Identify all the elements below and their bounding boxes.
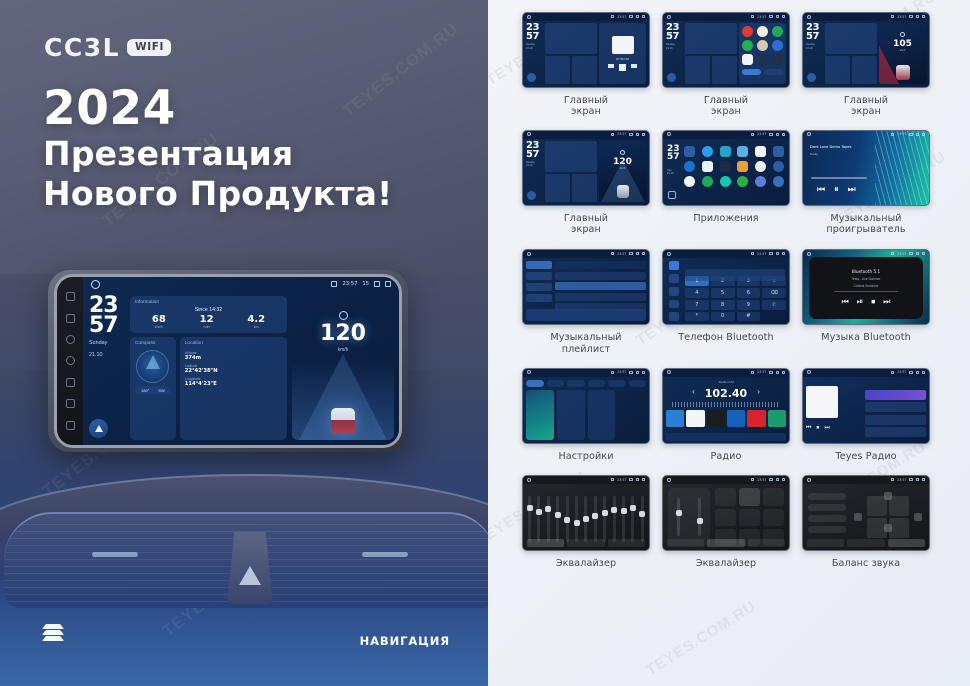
progress-bar[interactable]: [811, 177, 867, 179]
info-widgets: Information Since 14:32 68 km/h 12: [130, 296, 287, 440]
key-back-icon[interactable]: [66, 378, 75, 387]
thumbnail-label: Главныйэкран: [522, 95, 650, 118]
thumbnail-label: Радио: [662, 451, 790, 462]
foot-tab-eq[interactable]: [667, 539, 704, 547]
foot-tab-sound[interactable]: [567, 539, 604, 547]
visualizer-graphic: [875, 131, 929, 205]
preset-list[interactable]: [666, 410, 786, 427]
key-volume-up-icon[interactable]: [66, 421, 75, 430]
thumbnail-label: Музыкальныйпроигрыватель: [802, 213, 930, 236]
home-icon[interactable]: [91, 280, 100, 289]
thumb-bluetooth-music[interactable]: Bluetooth 5.1 Tesla - Like Summer Coldes…: [802, 249, 930, 355]
preset-button[interactable]: [715, 488, 736, 505]
headline-line-2: Нового Продукта!: [43, 174, 392, 214]
latitude-value: 22°42'38"N: [185, 368, 282, 374]
information-since: Since 14:32: [135, 307, 282, 313]
key-settings-icon[interactable]: [66, 335, 75, 344]
compass-dial-icon: [136, 350, 169, 383]
sliders-panel[interactable]: [668, 488, 710, 546]
dial-key-empty: [762, 312, 786, 322]
clock-date: 21.10: [89, 351, 125, 359]
equalizer-bands[interactable]: [528, 496, 644, 542]
call-icon[interactable]: ✆: [762, 300, 786, 310]
track-title: Dark Lane Demo Tapes: [810, 145, 852, 149]
vent-slot-left: [92, 552, 138, 557]
balance-preset[interactable]: [808, 493, 846, 500]
balance-pad[interactable]: [852, 488, 924, 546]
preset-2[interactable]: [686, 410, 704, 427]
thumbnail-image[interactable]: 23:57: [522, 475, 650, 551]
vent-slot-right: [362, 552, 408, 557]
equalizer-footer-tabs[interactable]: [807, 539, 925, 547]
mini-player-bar[interactable]: [526, 309, 646, 321]
navigation-arrow-icon[interactable]: [89, 419, 108, 438]
wifi-badge-icon: WIFI: [127, 39, 171, 56]
thumbnail-image[interactable]: 23:57: [802, 475, 930, 551]
screen-home: 2357 Sunday21.10 07:50 FM: [523, 21, 649, 87]
thumbnail-image[interactable]: 23:57: [522, 249, 650, 325]
hazard-light-button[interactable]: [227, 532, 273, 604]
compass-card[interactable]: Compass 180° SW: [130, 337, 176, 440]
thumb-equalizer-presets[interactable]: 23:57 Эквалайзер: [662, 475, 790, 569]
compass-heading: 180°: [141, 388, 149, 393]
frequency-scale[interactable]: [672, 402, 780, 407]
transport-controls[interactable]: ⏮ ⏹ ⏭: [806, 425, 862, 432]
car-graphic: [331, 408, 355, 434]
location-card[interactable]: Location Altitude 374m Latitude 22°42'38…: [180, 337, 287, 440]
screen-playlist: [523, 258, 649, 324]
previous-icon[interactable]: ⏮: [842, 297, 849, 307]
next-icon[interactable]: ⏭: [848, 184, 856, 195]
status-time: 23:57: [342, 281, 357, 287]
status-volume: 15: [362, 281, 369, 287]
balance-preset[interactable]: [808, 504, 846, 511]
card-empty: [618, 390, 646, 440]
preset-button[interactable]: [763, 488, 784, 505]
dial-key[interactable]: 4: [685, 288, 709, 298]
altitude-row: Altitude 374m: [185, 351, 282, 361]
balance-presets[interactable]: [808, 488, 846, 546]
stop-icon[interactable]: ⏹: [871, 297, 875, 307]
thumb-bluetooth-phone[interactable]: 1 2 3 ☆ 4 5 6 ⌫ 7 8 9 ✆: [662, 249, 790, 355]
longitude-value: 114°4'23"E: [185, 381, 282, 387]
dial-key[interactable]: 6: [737, 288, 761, 298]
phone-number-field[interactable]: [685, 269, 785, 281]
tab-display[interactable]: [567, 380, 585, 387]
product-logo: CC3L WIFI: [44, 33, 171, 62]
thumb-sound-balance[interactable]: 23:57 Баланс звука: [802, 475, 930, 569]
preset-1[interactable]: [666, 410, 684, 427]
backspace-icon[interactable]: ⌫: [762, 288, 786, 298]
tab-wifi[interactable]: [526, 380, 544, 387]
thumb-settings[interactable]: 23:57 Настройки: [522, 368, 650, 462]
dashboard-vent: [4, 512, 488, 608]
thumbnail-label: Teyes Радио: [802, 451, 930, 462]
preset-button[interactable]: [763, 509, 784, 526]
information-stats: 68 km/h 12 min 4.2 km: [135, 315, 282, 329]
thumbnail-image[interactable]: 1 2 3 ☆ 4 5 6 ⌫ 7 8 9 ✆: [662, 249, 790, 325]
head-unit-bezel: 23:57 15 23 57 Sunday 21.10: [54, 274, 402, 448]
frequency-value: 102.40: [705, 388, 747, 399]
dial-key[interactable]: *: [685, 312, 709, 322]
watermark: TEYES.COM.RU: [643, 598, 759, 679]
foot-tab-eq[interactable]: [527, 539, 564, 547]
thumbnail-label: Музыкальныйплейлист: [522, 332, 650, 355]
thumb-home-screen-speed[interactable]: 2357 Sunday21.10 105 km/h: [802, 12, 930, 118]
headline-year: 2024: [43, 84, 392, 134]
hazard-triangle-icon: [239, 566, 261, 585]
key-volume-down-icon[interactable]: [66, 399, 75, 408]
thumbnail-image[interactable]: 23:57: [522, 368, 650, 444]
thumbnail-image[interactable]: 23:57: [662, 475, 790, 551]
preset-button[interactable]: [715, 509, 736, 526]
thumbnail-label: Главныйэкран: [522, 213, 650, 236]
screen-home-nav: 2357 Sunday21.10 120 km/h: [523, 139, 649, 205]
key-home-icon[interactable]: [66, 356, 75, 365]
navigation-label: НАВИГАЦИЯ: [360, 634, 450, 648]
thumbnail-label: Главныйэкран: [802, 95, 930, 118]
thumbnail-image[interactable]: Stadion FM ‹ 102.40 ›: [662, 368, 790, 444]
screen-bluetooth-music: Bluetooth 5.1 Tesla - Like Summer Coldes…: [803, 250, 929, 324]
thumb-home-screen-media[interactable]: 2357 Sunday21.10 07:50 FM 23:57: [522, 12, 650, 118]
status-bar: 23:57 15: [83, 277, 399, 291]
stat-item: 4.2 km: [247, 315, 265, 329]
dial-key[interactable]: 5: [711, 288, 735, 298]
bt-artist: Coldest Sunshine: [854, 284, 879, 288]
presentation-slide: TEYES.COM.RU TEYES.COM.RU TEYES.COM.RU T…: [0, 0, 970, 686]
head-unit-screen[interactable]: 23:57 15 23 57 Sunday 21.10: [83, 277, 399, 445]
bt-track: Tesla - Like Summer: [851, 277, 880, 281]
preset-buttons[interactable]: [715, 488, 784, 546]
head-unit-hardkeys[interactable]: [57, 277, 83, 445]
thumbnail-label: Главныйэкран: [662, 95, 790, 118]
balance-up-button[interactable]: [884, 492, 892, 500]
clock-minutes: 57: [89, 316, 125, 336]
wifi-icon: [331, 281, 337, 287]
speed-value: 120: [292, 323, 394, 345]
thumb-teyes-radio[interactable]: ⏮ ⏹ ⏭ 23:57 Teyes Радио: [802, 368, 930, 462]
preset-4[interactable]: [727, 410, 745, 427]
next-icon[interactable]: ⏭: [883, 297, 890, 307]
balance-left-button[interactable]: [854, 513, 862, 521]
driving-view-widget[interactable]: 120 km/h: [292, 296, 394, 440]
screenshots-gallery-panel: TEYES.COM.RU TEYES.COM.RU TEYES.COM.RU T…: [488, 0, 970, 686]
transport-controls[interactable]: ⏮ ⏯ ⏹ ⏭: [842, 297, 891, 307]
speed-icon: [339, 311, 348, 320]
equalizer-footer-tabs[interactable]: [527, 539, 645, 547]
compass-title: Compass: [135, 341, 171, 346]
progress-bar[interactable]: [834, 291, 898, 292]
stat-unit: km/h: [152, 325, 166, 329]
thumbnail-image[interactable]: 2357 Sunday21.10 105 km/h: [802, 12, 930, 88]
thumbnail-label: Эквалайзер: [662, 558, 790, 569]
card-wifi[interactable]: [526, 390, 554, 440]
dial-key[interactable]: 0: [711, 312, 735, 322]
dial-key[interactable]: #: [737, 312, 761, 322]
logo-text: CC3L: [44, 33, 120, 62]
balance-preset[interactable]: [808, 526, 846, 533]
thumbnail-label: Настройки: [522, 451, 650, 462]
headline-line-1: Презентация: [43, 134, 392, 174]
thumbnail-image[interactable]: ⏮ ⏹ ⏭ 23:57: [802, 368, 930, 444]
equalizer-footer-tabs[interactable]: [667, 539, 785, 547]
track-artist: Drake: [810, 152, 818, 156]
thumbnail-label: Эквалайзер: [522, 558, 650, 569]
card-carplay[interactable]: [557, 390, 585, 440]
screen-equalizer: [523, 484, 649, 550]
tab-system[interactable]: [629, 380, 647, 387]
stat-value: 12: [200, 315, 214, 325]
compass-widget: 180° SW: [135, 348, 171, 394]
tab-sound[interactable]: [547, 380, 565, 387]
balance-down-button[interactable]: [884, 524, 892, 532]
pause-icon[interactable]: ⏸: [834, 184, 839, 195]
thumbnail-label: Приложения: [662, 213, 790, 224]
screen-settings: [523, 377, 649, 443]
latitude-row: Latitude 22°42'38"N: [185, 364, 282, 374]
preset-button[interactable]: [739, 509, 760, 526]
thumb-applications[interactable]: 2357 Sun21.10: [662, 130, 790, 236]
card-mirror[interactable]: [588, 390, 616, 440]
compass-direction: SW: [158, 388, 164, 393]
stat-value: 68: [152, 315, 166, 325]
thumb-music-playlist[interactable]: 23:57 Музыкальныйплейлист: [522, 249, 650, 355]
thumbnail-image[interactable]: 2357 Sunday21.10: [662, 12, 790, 88]
play-pause-icon[interactable]: ⏯: [857, 297, 863, 307]
compass-readout: 180° SW: [135, 386, 171, 394]
foot-tab-eq[interactable]: [807, 539, 844, 547]
next-station-icon[interactable]: ›: [757, 387, 760, 396]
preset-button[interactable]: [739, 488, 760, 505]
foot-tab-fader[interactable]: [888, 539, 925, 547]
preset-6[interactable]: [768, 410, 786, 427]
bluetooth-title: Bluetooth 5.1: [852, 269, 880, 274]
stat-unit: min: [200, 325, 214, 329]
thumb-home-screen-nav[interactable]: 2357 Sunday21.10 120 km/h: [522, 130, 650, 236]
key-power-icon[interactable]: [66, 292, 75, 301]
thumbnail-label: Баланс звука: [802, 558, 930, 569]
car-dashboard-photo: 23:57 15 23 57 Sunday 21.10: [0, 262, 488, 686]
dial-key[interactable]: 9: [737, 300, 761, 310]
tab-network[interactable]: [608, 380, 626, 387]
thumbnail-label: Телефон Bluetooth: [662, 332, 790, 343]
tab-general[interactable]: [588, 380, 606, 387]
gear-icon[interactable]: [374, 281, 380, 287]
clock-weekday: Sunday: [89, 339, 125, 347]
thumbnail-image[interactable]: Bluetooth 5.1 Tesla - Like Summer Coldes…: [802, 249, 930, 325]
screen-dialpad: 1 2 3 ☆ 4 5 6 ⌫ 7 8 9 ✆: [663, 258, 789, 324]
layers-icon: [42, 624, 64, 642]
thumb-equalizer-bands[interactable]: 23:57 Эквалайзер: [522, 475, 650, 569]
foot-tab-fader[interactable]: [608, 539, 645, 547]
stat-unit: km: [247, 325, 265, 329]
thumb-home-screen-apps[interactable]: 2357 Sunday21.10: [662, 12, 790, 118]
home-screen-body: 23 57 Sunday 21.10 Information Since 14:…: [83, 292, 399, 445]
speed-value: 105: [879, 39, 926, 49]
screen-home-apps: 2357 Sunday21.10: [663, 21, 789, 87]
headline: 2024 Презентация Нового Продукта!: [43, 84, 392, 214]
previous-icon[interactable]: ⏮: [817, 184, 825, 195]
lower-widgets: Compass 180° SW: [130, 337, 287, 440]
grid-row: 23:57 Эквалайзер: [522, 475, 942, 569]
speed-value: 120: [599, 157, 646, 167]
settings-cards: [526, 390, 646, 440]
screen-music-player: Dark Lane Demo Tapes Drake ⏮ ⏸ ⏭: [803, 131, 929, 205]
status-left: [91, 280, 100, 289]
settings-tabs[interactable]: [526, 380, 646, 387]
screen-equalizer-presets: [663, 484, 789, 550]
screen-applications: 2357 Sun21.10: [663, 139, 789, 205]
album-art: [806, 386, 838, 418]
grid-row: 2357 Sunday21.10 120 km/h: [522, 130, 942, 236]
radio-toolbar[interactable]: [666, 433, 786, 441]
screen-teyes-radio: ⏮ ⏹ ⏭: [803, 377, 929, 443]
stat-item: 12 min: [200, 315, 214, 329]
previous-icon[interactable]: ⏮: [806, 425, 811, 432]
grid-row: 23:57 Музыкальныйплейлист 1 2 3: [522, 249, 942, 355]
information-title: Information: [135, 300, 282, 305]
thumb-radio[interactable]: Stadion FM ‹ 102.40 ›: [662, 368, 790, 462]
foot-tab-sound[interactable]: [707, 539, 744, 547]
hero-panel: TEYES.COM.RU TEYES.COM.RU TEYES.COM.RU T…: [0, 0, 488, 686]
stat-value: 4.2: [247, 315, 265, 325]
foot-tab-sound[interactable]: [847, 539, 884, 547]
location-title: Location: [185, 341, 282, 346]
thumbnail-grid: 2357 Sunday21.10 07:50 FM 23:57: [522, 12, 942, 580]
thumb-music-player[interactable]: Dark Lane Demo Tapes Drake ⏮ ⏸ ⏭ 23:57 М…: [802, 130, 930, 236]
back-icon[interactable]: [385, 281, 391, 287]
status-right: 23:57 15: [331, 281, 391, 287]
grid-row: 2357 Sunday21.10 07:50 FM 23:57: [522, 12, 942, 118]
clock-widget: 23 57 Sunday 21.10: [89, 296, 125, 440]
dial-key[interactable]: 8: [711, 300, 735, 310]
foot-tab-fader[interactable]: [748, 539, 785, 547]
key-mute-icon[interactable]: [66, 314, 75, 323]
stat-item: 68 km/h: [152, 315, 166, 329]
information-card[interactable]: Information Since 14:32 68 km/h 12: [130, 296, 287, 333]
screen-sound-balance: [803, 484, 929, 550]
altitude-value: 374m: [185, 355, 282, 361]
speed-readout: 120 km/h: [292, 311, 394, 353]
speed-unit: km/h: [292, 347, 394, 353]
screen-radio: Stadion FM ‹ 102.40 ›: [663, 377, 789, 443]
thumbnail-image[interactable]: 2357 Sun21.10: [662, 130, 790, 206]
thumbnail-label: Музыка Bluetooth: [802, 332, 930, 343]
preset-3[interactable]: [707, 410, 725, 427]
dial-key[interactable]: 7: [685, 300, 709, 310]
longitude-row: Longitude 114°4'23"E: [185, 377, 282, 387]
balance-right-button[interactable]: [914, 513, 922, 521]
next-icon[interactable]: ⏭: [824, 425, 829, 432]
screen-home-speed: 2357 Sunday21.10 105 km/h: [803, 21, 929, 87]
thumbnail-image[interactable]: 2357 Sunday21.10 120 km/h: [522, 130, 650, 206]
preset-5[interactable]: [747, 410, 765, 427]
thumbnail-image[interactable]: Dark Lane Demo Tapes Drake ⏮ ⏸ ⏭ 23:57: [802, 130, 930, 206]
prev-station-icon[interactable]: ‹: [692, 387, 695, 396]
dialpad[interactable]: 1 2 3 ☆ 4 5 6 ⌫ 7 8 9 ✆: [685, 276, 786, 321]
transport-controls[interactable]: ⏮ ⏸ ⏭: [817, 184, 856, 195]
stop-icon[interactable]: ⏹: [816, 425, 819, 432]
grid-row: 23:57 Настройки Stadion FM ‹ 102.40 ›: [522, 368, 942, 462]
thumbnail-image[interactable]: 2357 Sunday21.10 07:50 FM 23:57: [522, 12, 650, 88]
balance-preset[interactable]: [808, 515, 846, 522]
